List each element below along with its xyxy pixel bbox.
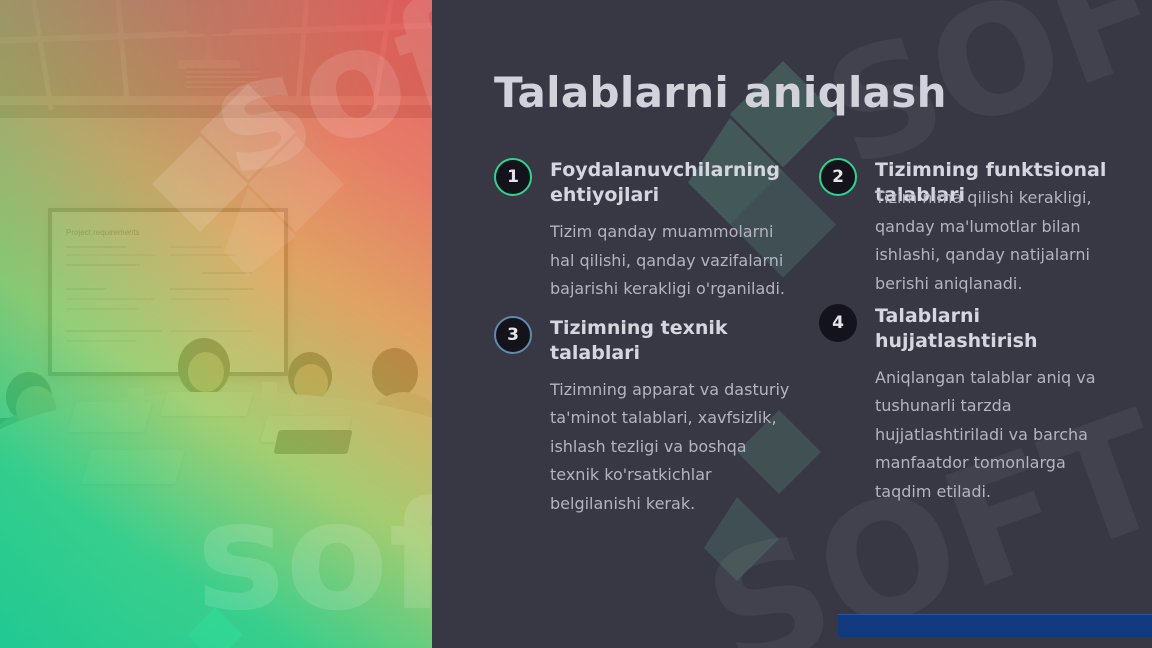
items-row-1: 1 Foydalanuvchilarning ehtiyojlari Tizim…: [494, 150, 1144, 304]
item-heading-3: Tizimning texnik talablari: [550, 308, 782, 366]
item-body-4: Aniqlangan talablar aniq va tushunarli t…: [875, 364, 1115, 506]
gradient-overlay-secondary: [0, 0, 432, 648]
item-card-3[interactable]: 3 Tizimning texnik talablari Tizimning a…: [494, 308, 819, 519]
item-header-3: 3 Tizimning texnik talablari: [494, 308, 819, 366]
item-body-3: Tizimning apparat va dasturiy ta'minot t…: [550, 376, 790, 518]
slide: Project requirements: [0, 0, 1152, 648]
item-number-badge-2: 2: [819, 158, 857, 196]
items-grid: 1 Foydalanuvchilarning ehtiyojlari Tizim…: [494, 150, 1144, 518]
item-header-1: 1 Foydalanuvchilarning ehtiyojlari: [494, 150, 819, 208]
page-title: Talablarni aniqlash: [494, 68, 947, 117]
item-body-2: Tizim nima qilishi kerakligi, qanday ma'…: [875, 184, 1115, 298]
item-card-4[interactable]: 4 Talablarni hujjatlashtirish Aniqlangan…: [819, 308, 1144, 519]
item-body-1: Tizim qanday muammolarni hal qilishi, qa…: [550, 218, 790, 303]
item-number-badge-4: 4: [819, 304, 857, 342]
left-image-panel: Project requirements: [0, 0, 432, 648]
item-heading-1: Foydalanuvchilarning ehtiyojlari: [550, 150, 782, 208]
item-number-badge-3: 3: [494, 316, 532, 354]
item-card-1[interactable]: 1 Foydalanuvchilarning ehtiyojlari Tizim…: [494, 150, 819, 304]
item-number-badge-1: 1: [494, 158, 532, 196]
content-panel: SOFT SOFT Talablarni aniqlash 1 Foydalan…: [432, 0, 1152, 648]
item-card-2[interactable]: 2 Tizimning funktsional talablari Tizim …: [819, 150, 1144, 304]
footer-progress-bar[interactable]: [838, 614, 1152, 637]
items-row-2: 3 Tizimning texnik talablari Tizimning a…: [494, 308, 1144, 519]
item-heading-4: Talablarni hujjatlashtirish: [875, 296, 1107, 354]
item-header-4: 4 Talablarni hujjatlashtirish: [819, 296, 1144, 354]
